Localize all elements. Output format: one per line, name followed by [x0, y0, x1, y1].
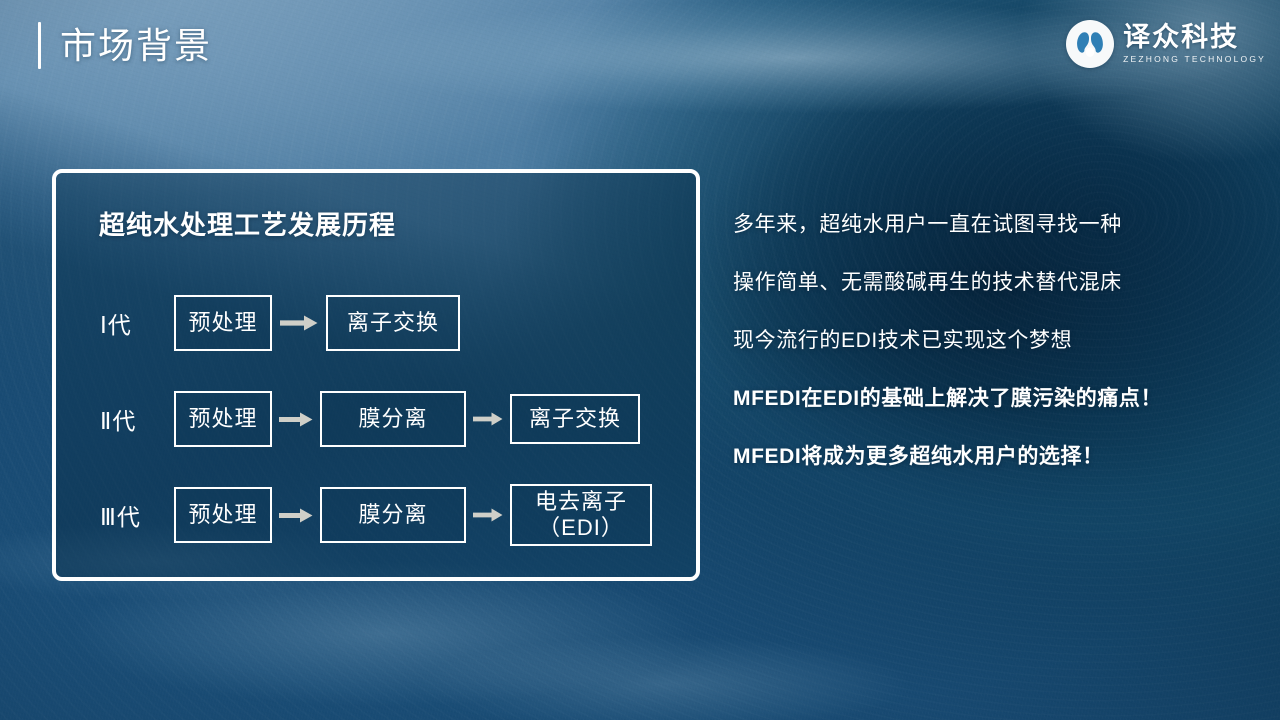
node-label: 膜分离 — [358, 502, 427, 528]
node-label: 膜分离 — [358, 406, 427, 432]
node-label: 电去离子 — [535, 489, 627, 515]
node-gen3-electrodeionization[interactable]: 电去离子 （EDI） — [510, 484, 652, 546]
logo-text-group: 译众科技 ZEZHONG TECHNOLOGY — [1123, 24, 1266, 64]
brand-logo: 译众科技 ZEZHONG TECHNOLOGY — [1066, 20, 1266, 68]
generation-label-1: Ⅰ代 — [100, 306, 174, 340]
node-gen1-ion-exchange[interactable]: 离子交换 — [326, 295, 460, 351]
process-row-gen3: Ⅲ代 预处理 膜分离 电去离子 — [56, 467, 696, 563]
card-title: 超纯水处理工艺发展历程 — [99, 205, 396, 242]
process-rows: Ⅰ代 预处理 离子交换 Ⅱ代 预处理 — [56, 275, 696, 563]
body-text-line-5: MFEDI将成为更多超纯水用户的选择！ — [733, 446, 1263, 467]
title-accent-bar — [38, 22, 41, 69]
right-arrow-icon — [466, 508, 510, 522]
body-text-line-3: 现今流行的EDI技术已实现这个梦想 — [733, 330, 1263, 351]
water-droplet-logo-icon — [1066, 20, 1114, 68]
logo-name-cn: 译众科技 — [1123, 24, 1266, 51]
generation-label-2: Ⅱ代 — [100, 402, 174, 436]
right-arrow-icon — [466, 412, 510, 426]
page-header: 市场背景 — [38, 22, 212, 69]
node-gen2-pretreatment[interactable]: 预处理 — [174, 391, 272, 447]
body-text-line-2: 操作简单、无需酸碱再生的技术替代混床 — [733, 272, 1263, 293]
generation-label-3: Ⅲ代 — [100, 498, 174, 532]
logo-name-en: ZEZHONG TECHNOLOGY — [1123, 55, 1266, 64]
node-label: 预处理 — [188, 502, 257, 528]
node-label-secondary: （EDI） — [538, 515, 624, 541]
node-gen2-ion-exchange[interactable]: 离子交换 — [510, 394, 640, 444]
node-gen3-membrane-separation[interactable]: 膜分离 — [320, 487, 466, 543]
right-arrow-icon — [272, 412, 320, 427]
node-label: 预处理 — [188, 406, 257, 432]
body-text-block: 多年来，超纯水用户一直在试图寻找一种 操作简单、无需酸碱再生的技术替代混床 现今… — [733, 214, 1263, 467]
body-text-line-1: 多年来，超纯水用户一直在试图寻找一种 — [733, 214, 1263, 235]
node-label: 离子交换 — [529, 406, 621, 432]
body-text-line-4: MFEDI在EDI的基础上解决了膜污染的痛点！ — [733, 388, 1263, 409]
process-row-gen1: Ⅰ代 预处理 离子交换 — [56, 275, 696, 371]
slide-root: 市场背景 译众科技 ZEZHONG TECHNOLOGY 超纯水处理工艺发展历程… — [0, 0, 1280, 720]
node-label: 离子交换 — [347, 310, 439, 336]
node-gen3-pretreatment[interactable]: 预处理 — [174, 487, 272, 543]
process-row-gen2: Ⅱ代 预处理 膜分离 离子交换 — [56, 371, 696, 467]
node-gen2-membrane-separation[interactable]: 膜分离 — [320, 391, 466, 447]
right-arrow-icon — [272, 315, 326, 331]
node-gen1-pretreatment[interactable]: 预处理 — [174, 295, 272, 351]
process-history-card: 超纯水处理工艺发展历程 Ⅰ代 预处理 离子交换 Ⅱ代 — [52, 169, 700, 581]
right-arrow-icon — [272, 508, 320, 523]
node-label: 预处理 — [188, 310, 257, 336]
page-title: 市场背景 — [60, 28, 212, 64]
